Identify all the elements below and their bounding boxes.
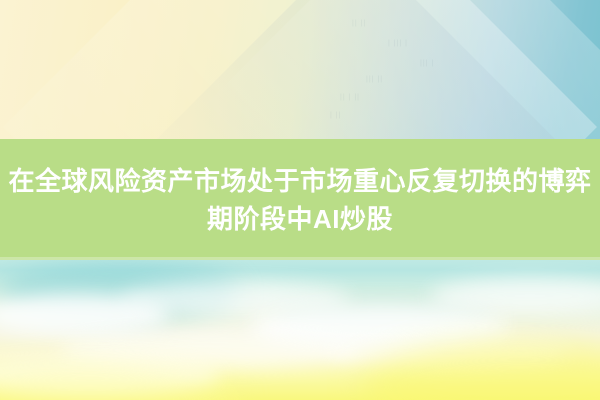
cover-image: || || | ||| | ||| || || | || | || ||| | … xyxy=(0,0,600,400)
title-line-2: 期阶段中AI炒股 xyxy=(207,200,393,238)
title-line-1: 在全球风险资产市场处于市场重心反复切换的博弈 xyxy=(8,162,591,200)
sky-gradient-panel xyxy=(0,260,600,400)
faint-texture-mark: || | || xyxy=(340,92,360,103)
faint-texture-mark: | || xyxy=(330,110,341,121)
faint-texture-mark: | ||| | xyxy=(388,38,408,49)
faint-texture-mark: ||| | xyxy=(420,58,434,69)
faint-texture-mark: || || xyxy=(352,18,366,29)
title-banner: 在全球风险资产市场处于市场重心反复切换的博弈 期阶段中AI炒股 xyxy=(0,139,600,260)
faint-texture-mark: ||| || xyxy=(366,74,383,85)
top-gradient-panel: || || | ||| | ||| || || | || | || ||| | xyxy=(0,0,600,140)
